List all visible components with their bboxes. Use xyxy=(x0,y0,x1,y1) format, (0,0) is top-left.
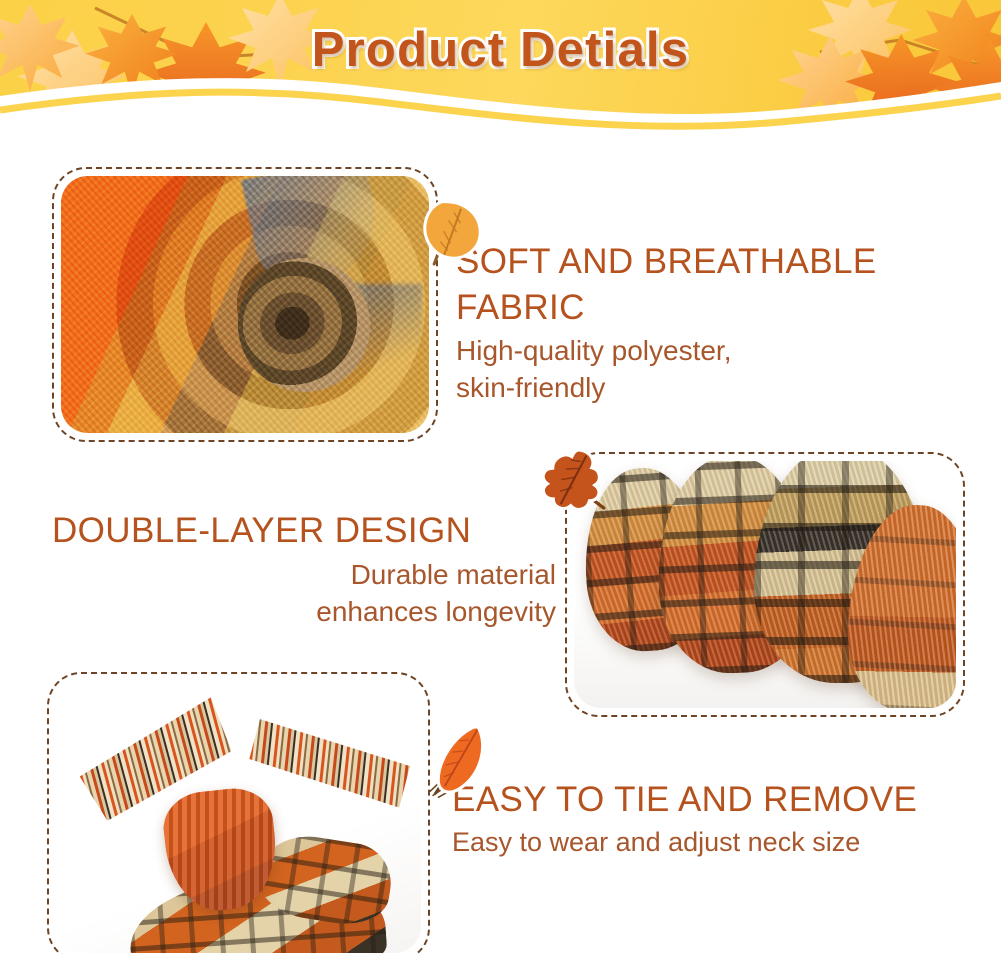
feature-text-easy-tie: EASY TO TIE AND REMOVE Easy to wear and … xyxy=(452,777,992,860)
page-title: Product Detials xyxy=(0,22,1001,78)
feature-title: DOUBLE-LAYER DESIGN xyxy=(52,508,562,554)
pointed-leaf-icon xyxy=(418,726,498,798)
feature-photo-soft-fabric xyxy=(52,167,438,442)
photo-image-knotted-scarf xyxy=(56,681,421,953)
feature-subtitle: Easy to wear and adjust neck size xyxy=(452,825,992,861)
feature-title: SOFT AND BREATHABLE FABRIC xyxy=(456,239,976,330)
product-details-infographic: Product Detials SOFT AND BREATHABLE FABR… xyxy=(0,0,1001,954)
banner-wave-divider xyxy=(0,70,1001,130)
feature-subtitle: High-quality polyester, skin-friendly xyxy=(456,332,976,406)
header-banner: Product Detials xyxy=(0,0,1001,130)
feature-photo-double-layer xyxy=(565,452,965,717)
feature-text-soft-fabric: SOFT AND BREATHABLE FABRIC High-quality … xyxy=(456,239,976,406)
feature-subtitle: Durable material enhances longevity xyxy=(52,556,562,630)
feature-photo-easy-tie xyxy=(47,672,430,954)
photo-image-swirl-fabric xyxy=(61,176,429,433)
feature-text-double-layer: DOUBLE-LAYER DESIGN Durable material enh… xyxy=(52,508,562,630)
photo-image-folded-scarf xyxy=(574,461,956,708)
feature-title: EASY TO TIE AND REMOVE xyxy=(452,777,992,823)
birch-leaf-icon xyxy=(412,196,488,266)
oak-leaf-icon xyxy=(528,446,612,520)
